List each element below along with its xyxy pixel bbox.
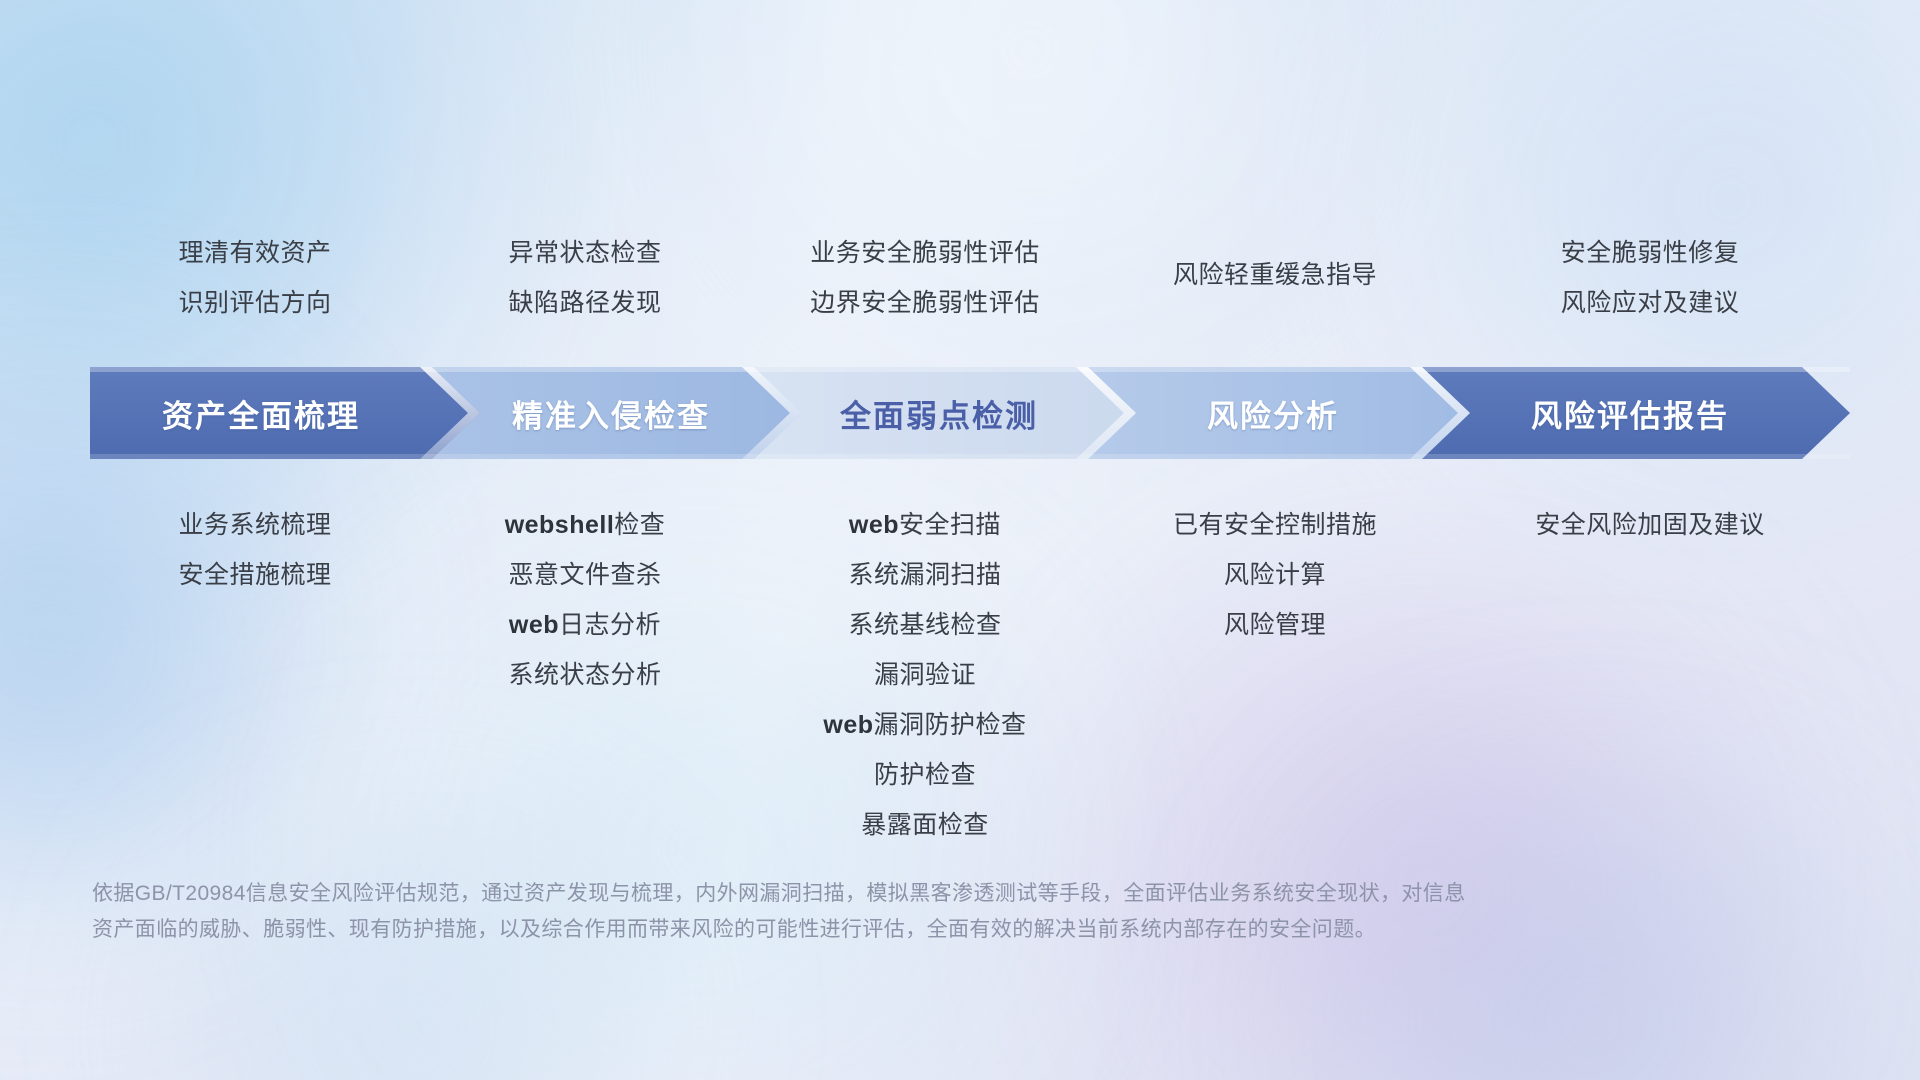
note: 安全脆弱性修复 xyxy=(1450,228,1850,278)
band-top-sheen xyxy=(90,367,1850,372)
bottom-notes-stage-5: 安全风险加固及建议 xyxy=(1450,500,1850,550)
note-text: 安全扫描 xyxy=(899,511,1001,539)
top-notes-stage-3: 业务安全脆弱性评估 边界安全脆弱性评估 xyxy=(750,228,1100,328)
note-prefix: web xyxy=(849,511,899,539)
note: 恶意文件查杀 xyxy=(420,550,750,600)
chevron-stage-1[interactable] xyxy=(90,367,480,459)
note: 风险应对及建议 xyxy=(1450,278,1850,328)
footer-line-1: 依据GB/T20984信息安全风险评估规范，通过资产发现与梳理，内外网漏洞扫描，… xyxy=(92,876,1592,912)
top-notes-stage-5: 安全脆弱性修复 风险应对及建议 xyxy=(1450,228,1850,328)
note: 防护检查 xyxy=(750,750,1100,800)
note: 理清有效资产 xyxy=(90,228,420,278)
stage-chevron-band: 资产全面梳理 精准入侵检查 全面弱点检测 风险分析 风险评估报告 xyxy=(90,367,1850,459)
top-notes-stage-1: 理清有效资产 识别评估方向 xyxy=(90,228,420,328)
note: web漏洞防护检查 xyxy=(750,700,1100,750)
note-prefix: webshell xyxy=(505,511,615,539)
note: 漏洞验证 xyxy=(750,650,1100,700)
note: 识别评估方向 xyxy=(90,278,420,328)
note: 风险计算 xyxy=(1100,550,1450,600)
note-prefix: web xyxy=(823,711,873,739)
note: 系统状态分析 xyxy=(420,650,750,700)
note-text: 日志分析 xyxy=(559,611,661,639)
note: 系统漏洞扫描 xyxy=(750,550,1100,600)
note: 业务系统梳理 xyxy=(90,500,420,550)
bottom-notes-stage-2: webshell检查 恶意文件查杀 web日志分析 系统状态分析 xyxy=(420,500,750,700)
note: web安全扫描 xyxy=(750,500,1100,550)
note: 异常状态检查 xyxy=(420,228,750,278)
chevron-shapes xyxy=(90,367,1850,459)
bottom-notes-row: 业务系统梳理 安全措施梳理 webshell检查 恶意文件查杀 web日志分析 … xyxy=(90,500,1850,850)
note-text: 漏洞防护检查 xyxy=(874,711,1027,739)
note: 安全措施梳理 xyxy=(90,550,420,600)
note: webshell检查 xyxy=(420,500,750,550)
footer-line-2: 资产面临的威胁、脆弱性、现有防护措施，以及综合作用而带来风险的可能性进行评估，全… xyxy=(92,912,1592,948)
note: 边界安全脆弱性评估 xyxy=(750,278,1100,328)
chevron-stage-5[interactable] xyxy=(1410,367,1850,459)
top-notes-stage-2: 异常状态检查 缺陷路径发现 xyxy=(420,228,750,328)
footer-description: 依据GB/T20984信息安全风险评估规范，通过资产发现与梳理，内外网漏洞扫描，… xyxy=(92,876,1592,948)
note: 业务安全脆弱性评估 xyxy=(750,228,1100,278)
bottom-notes-stage-1: 业务系统梳理 安全措施梳理 xyxy=(90,500,420,600)
band-bottom-shade xyxy=(90,454,1850,459)
top-notes-row: 理清有效资产 识别评估方向 异常状态检查 缺陷路径发现 业务安全脆弱性评估 边界… xyxy=(90,228,1850,328)
note: 缺陷路径发现 xyxy=(420,278,750,328)
bottom-notes-stage-4: 已有安全控制措施 风险计算 风险管理 xyxy=(1100,500,1450,650)
top-notes-stage-4: 风险轻重缓急指导 xyxy=(1100,228,1450,300)
note: 系统基线检查 xyxy=(750,600,1100,650)
note-prefix: web xyxy=(509,611,559,639)
note: web日志分析 xyxy=(420,600,750,650)
note-text: 检查 xyxy=(614,511,665,539)
process-diagram: 理清有效资产 识别评估方向 异常状态检查 缺陷路径发现 业务安全脆弱性评估 边界… xyxy=(0,0,1920,1080)
note: 安全风险加固及建议 xyxy=(1450,500,1850,550)
note: 已有安全控制措施 xyxy=(1100,500,1450,550)
bottom-notes-stage-3: web安全扫描 系统漏洞扫描 系统基线检查 漏洞验证 web漏洞防护检查 防护检… xyxy=(750,500,1100,850)
note: 暴露面检查 xyxy=(750,800,1100,850)
note: 风险轻重缓急指导 xyxy=(1100,228,1450,300)
note: 风险管理 xyxy=(1100,600,1450,650)
